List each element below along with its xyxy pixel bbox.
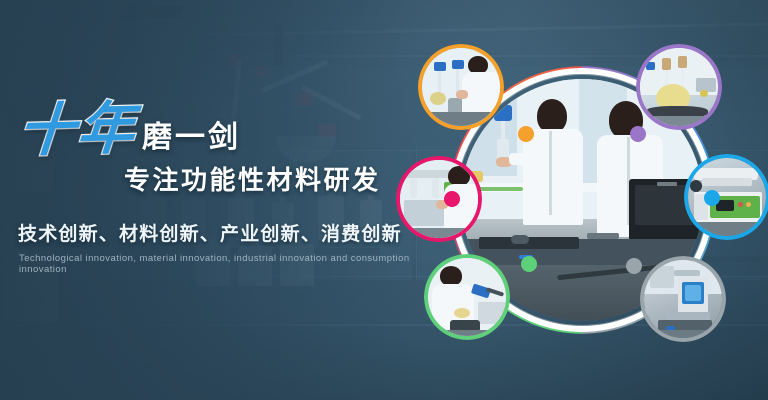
node-green[interactable]	[424, 254, 510, 340]
promo-banner: 十年 磨一剑 专注功能性材料研发 技术创新、材料创新、产业创新、消费创新 Tec…	[0, 0, 768, 400]
subheadline: 专注功能性材料研发	[14, 160, 414, 197]
connector-dot-gray	[626, 258, 642, 274]
brush-headline: 十年	[12, 102, 139, 159]
node-magenta[interactable]	[396, 156, 482, 242]
features-english: Technological innovation, material innov…	[14, 253, 414, 275]
node-orange[interactable]	[418, 44, 504, 130]
features-chinese: 技术创新、材料创新、产业创新、消费创新	[14, 219, 414, 246]
node-cyan[interactable]	[684, 154, 768, 240]
node-purple[interactable]	[636, 44, 722, 130]
node-gray[interactable]	[640, 256, 726, 342]
circle-cluster-graphic	[396, 26, 768, 374]
headline-row: 十年 磨一剑	[14, 96, 414, 158]
headline-rest: 磨一剑	[142, 121, 241, 158]
connector-dot-purple	[630, 126, 646, 142]
connector-dot-orange	[518, 126, 534, 142]
connector-dot-green	[521, 256, 537, 272]
connector-dot-cyan	[704, 190, 720, 206]
connector-dot-magenta	[444, 191, 460, 207]
headline-copy-block: 十年 磨一剑 专注功能性材料研发 技术创新、材料创新、产业创新、消费创新 Tec…	[14, 96, 414, 275]
